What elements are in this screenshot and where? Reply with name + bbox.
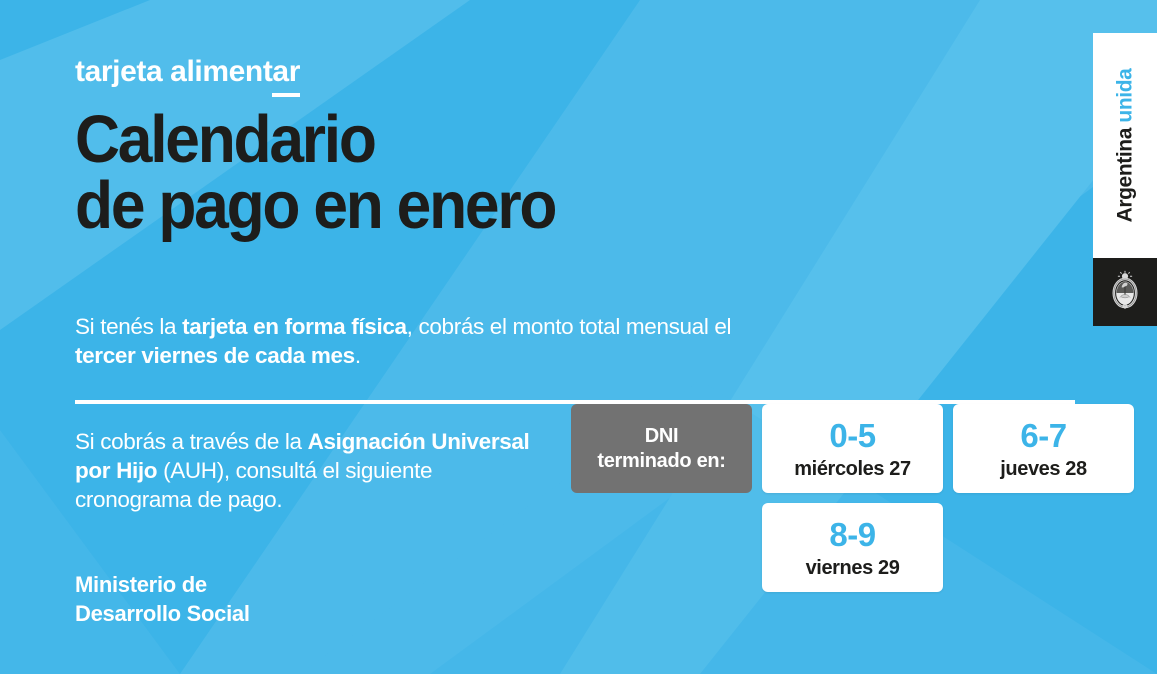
schedule-card: 6-7 jueves 28 (953, 404, 1134, 493)
ministry-line-1: Ministerio de (75, 571, 250, 600)
dni-range: 0-5 (829, 419, 875, 452)
schedule-card: 8-9 viernes 29 (762, 503, 943, 592)
argentina-unida-logotype: Argentina unida (1115, 69, 1136, 223)
headline-line-2: de pago en enero (75, 173, 555, 239)
physical-bold-2: tercer viernes de cada mes (75, 343, 355, 368)
paragraph-physical-card: Si tenés la tarjeta en forma física, cob… (75, 313, 775, 371)
payment-day: viernes 29 (806, 558, 900, 578)
brand-word-unida: unida (1114, 69, 1137, 123)
ministry-line-2: Desarrollo Social (75, 600, 250, 629)
physical-text-1: Si tenés la (75, 314, 182, 339)
paragraph-auh: Si cobrás a través de la Asignación Univ… (75, 428, 545, 514)
schedule-card-grid: 0-5 miércoles 27 6-7 jueves 28 8-9 viern… (762, 404, 1134, 592)
payment-day: miércoles 27 (794, 459, 910, 479)
physical-bold-1: tarjeta en forma física (182, 314, 407, 339)
headline-line-1: Calendario (75, 107, 555, 173)
dni-range: 6-7 (1020, 419, 1066, 452)
argentina-coat-of-arms-icon (1108, 270, 1142, 314)
poster-root: tarjeta alimentar Calendario de pago en … (0, 0, 1157, 674)
auh-text-1: Si cobrás a través de la (75, 429, 308, 454)
brand-word-argentina: Argentina (1114, 128, 1137, 222)
payment-day: jueves 28 (1000, 459, 1086, 479)
dni-label-line-1: DNI (645, 424, 679, 448)
ministry-signature: Ministerio de Desarrollo Social (75, 571, 250, 628)
dni-label-line-2: terminado en: (597, 449, 725, 473)
page-title: Calendario de pago en enero (75, 107, 555, 240)
physical-text-2: , cobrás el monto total mensual el (407, 314, 732, 339)
dni-label-card: DNI terminado en: (571, 404, 752, 493)
eyebrow-brand: tarjeta alimentar (75, 57, 300, 87)
crest-block (1093, 258, 1157, 326)
brand-rail: Argentina unida (1093, 33, 1157, 326)
physical-text-3: . (355, 343, 361, 368)
schedule-card: 0-5 miércoles 27 (762, 404, 943, 493)
dni-range: 8-9 (829, 518, 875, 551)
payment-schedule: DNI terminado en: 0-5 miércoles 27 6-7 j… (571, 404, 1134, 592)
eyebrow-plain: tarjeta aliment (75, 55, 272, 88)
argentina-unida-panel: Argentina unida (1093, 33, 1157, 258)
eyebrow-underlined: ar (272, 55, 300, 97)
